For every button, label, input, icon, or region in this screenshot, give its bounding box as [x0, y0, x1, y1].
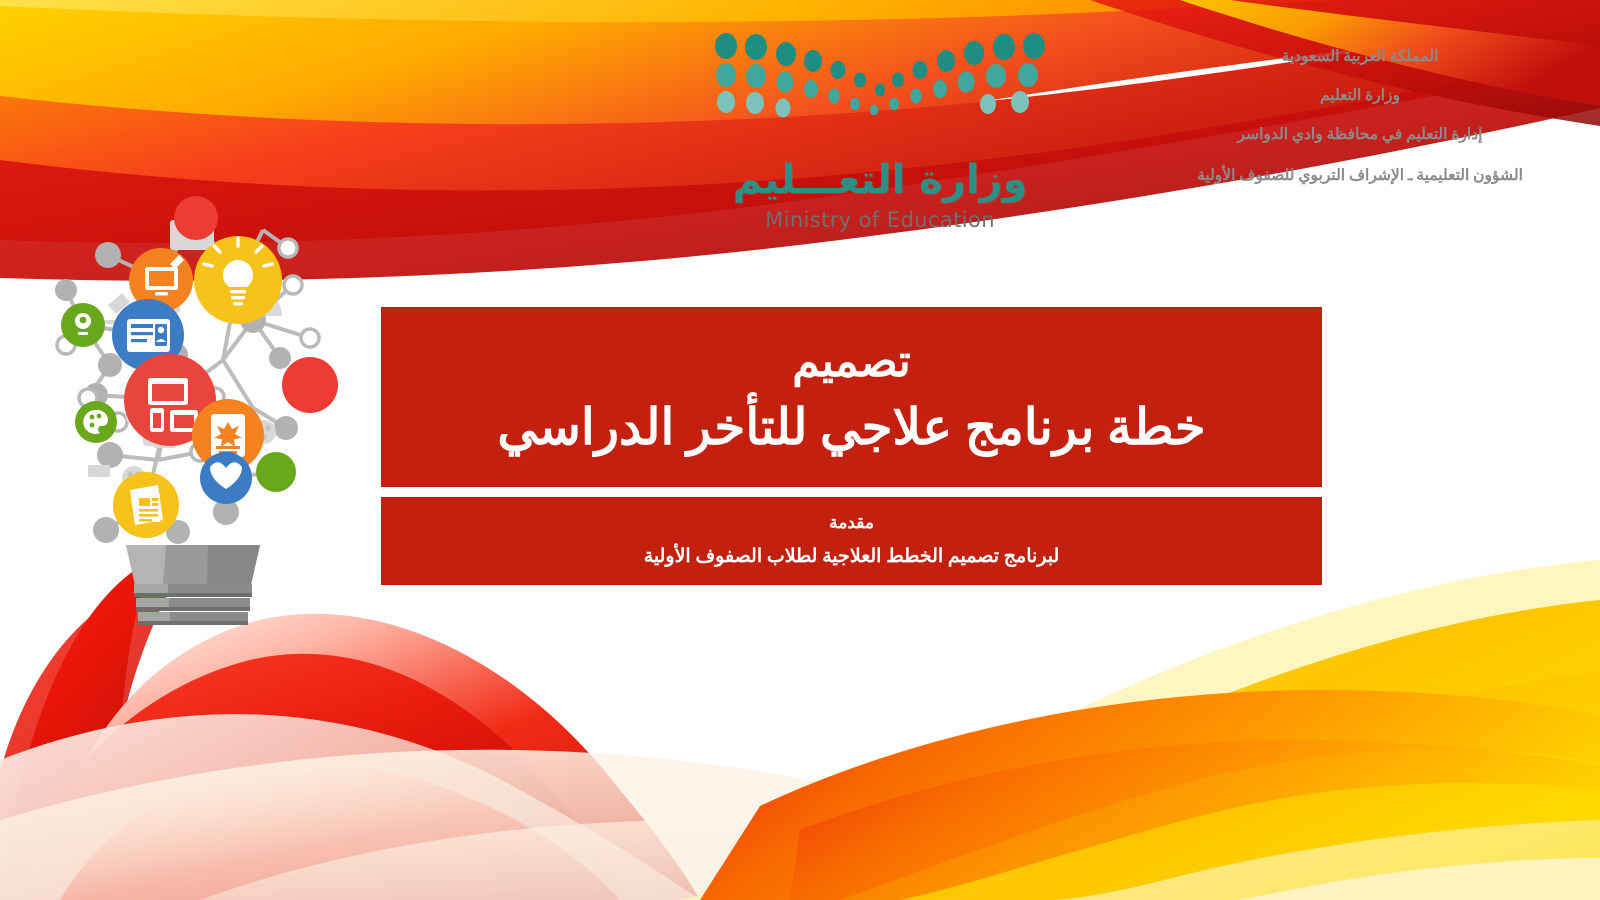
- logo-arabic-wordmark: وزارة التعـــليم: [700, 160, 1060, 200]
- ministry-header-block: المملكة العربية السعودية وزارة التعليم إ…: [1150, 48, 1570, 188]
- ministry-of-education-logo: وزارة التعـــليم Ministry of Education: [700, 30, 1060, 232]
- header-line-directorate: إدارة التعليم في محافظة وادي الدواسر: [1150, 126, 1570, 143]
- header-line-ministry: وزارة التعليم: [1150, 87, 1570, 104]
- subtitle-banner: مقدمة لبرنامج تصميم الخطط العلاجية لطلاب…: [381, 497, 1322, 585]
- subtitle-description: لبرنامج تصميم الخطط العلاجية لطلاب الصفو…: [644, 546, 1060, 569]
- header-line-department: الشؤون التعليمية ـ الإشراف التربوي للصفو…: [1150, 165, 1570, 187]
- subtitle-label: مقدمة: [829, 513, 874, 533]
- logo-english-wordmark: Ministry of Education: [700, 208, 1060, 232]
- vision-dots-icon: [700, 30, 1060, 120]
- page-title-primary: تصميم: [792, 339, 910, 385]
- presentation-title-slide: وزارة التعـــليم Ministry of Education ا…: [0, 0, 1600, 900]
- page-title-secondary: خطة برنامج علاجي للتأخر الدراسي: [497, 399, 1205, 455]
- main-title-banner: تصميم خطة برنامج علاجي للتأخر الدراسي: [381, 307, 1322, 487]
- lightbulb-idea-network-graphic: [48, 160, 338, 630]
- header-line-kingdom: المملكة العربية السعودية: [1150, 48, 1570, 65]
